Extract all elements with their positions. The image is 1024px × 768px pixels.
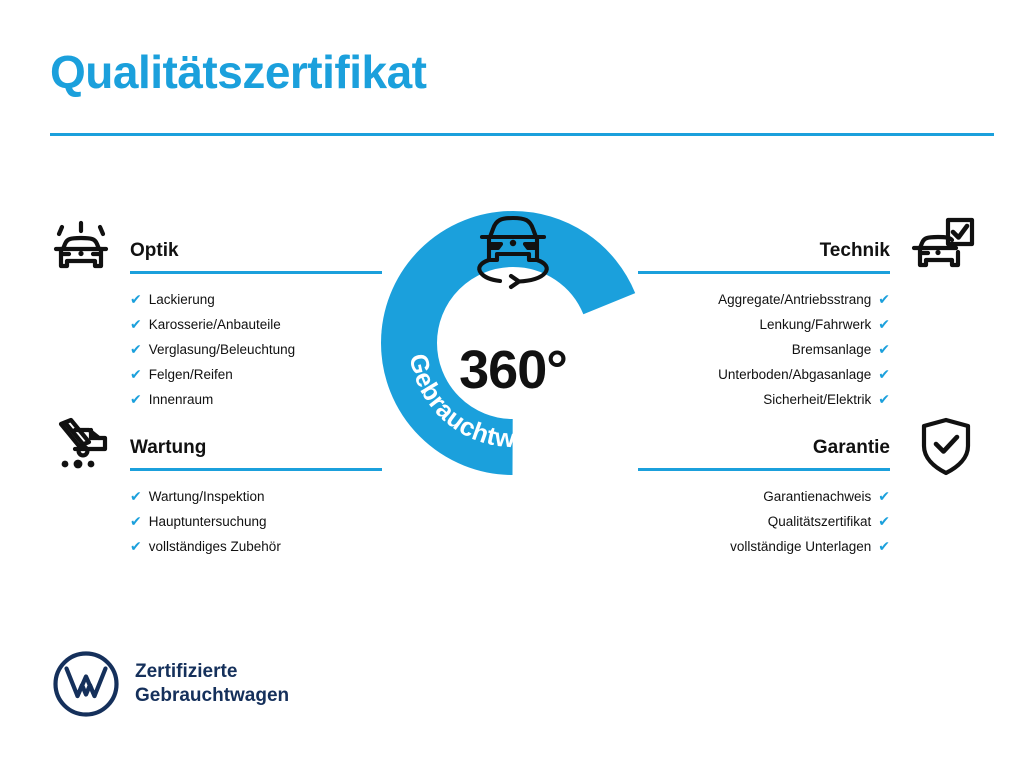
section-title: Technik [638,240,890,262]
list-item-label: Unterboden/Abgasanlage [718,363,871,387]
page-title: Qualitätszertifikat [50,47,427,98]
checklist-optik: ✔Lackierung ✔Karosserie/Anbauteile ✔Verg… [130,287,382,412]
check-icon: ✔ [878,337,890,361]
list-item-label: Innenraum [149,388,214,412]
check-icon: ✔ [878,484,890,508]
list-item-label: Lenkung/Fahrwerk [759,313,871,337]
list-item: ✔Verglasung/Beleuchtung [130,337,382,362]
check-icon: ✔ [130,534,142,558]
vw-certified-logo: Zertifizierte Gebrauchtwagen [52,650,289,718]
title-divider [50,133,994,136]
checklist-technik: Aggregate/Antriebsstrang✔ Lenkung/Fahrwe… [638,287,890,412]
list-item-label: Garantienachweis [763,485,871,509]
list-item: Qualitätszertifikat✔ [638,509,890,534]
list-item-label: Hauptuntersuchung [149,510,267,534]
list-item-label: Aggregate/Antriebsstrang [718,288,871,312]
vw-wordmark-line1: Zertifizierte [135,660,289,684]
list-item-label: vollständiges Zubehör [149,535,281,559]
section-optik: Optik ✔Lackierung ✔Karosserie/Anbauteile… [130,240,382,412]
check-icon: ✔ [878,534,890,558]
shield-check-icon [910,410,982,482]
list-item-label: Qualitätszertifikat [768,510,872,534]
list-item: Bremsanlage✔ [638,337,890,362]
vw-wordmark: Zertifizierte Gebrauchtwagen [135,660,289,708]
car-checkbox-icon [906,208,978,280]
list-item: ✔Wartung/Inspektion [130,484,382,509]
check-icon: ✔ [130,362,142,386]
list-item: ✔Lackierung [130,287,382,312]
list-item: vollständige Unterlagen✔ [638,534,890,559]
section-title: Garantie [638,437,890,459]
list-item-label: Verglasung/Beleuchtung [149,338,295,362]
section-technik: Technik Aggregate/Antriebsstrang✔ Lenkun… [638,240,890,412]
section-title: Wartung [130,437,382,459]
360-check-badge: Gebrauchtwagen-Check 360° [370,200,656,486]
list-item: Lenkung/Fahrwerk✔ [638,312,890,337]
section-header: Optik [130,240,382,274]
section-header: Garantie [638,437,890,471]
section-underline [638,468,890,471]
list-item-label: Wartung/Inspektion [149,485,265,509]
check-icon: ✔ [130,509,142,533]
volkswagen-roundel-icon [52,650,120,718]
vw-wordmark-line2: Gebrauchtwagen [135,684,289,708]
list-item: Aggregate/Antriebsstrang✔ [638,287,890,312]
check-icon: ✔ [878,312,890,336]
list-item: ✔Karosserie/Anbauteile [130,312,382,337]
section-header: Wartung [130,437,382,471]
car-service-pen-icon [45,406,117,478]
check-icon: ✔ [130,337,142,361]
list-item: Garantienachweis✔ [638,484,890,509]
check-icon: ✔ [130,387,142,411]
check-icon: ✔ [878,509,890,533]
list-item: Unterboden/Abgasanlage✔ [638,362,890,387]
section-header: Technik [638,240,890,274]
car-shine-icon [45,208,117,280]
list-item-label: vollständige Unterlagen [730,535,871,559]
list-item: Sicherheit/Elektrik✔ [638,387,890,412]
list-item-label: Bremsanlage [792,338,872,362]
section-title: Optik [130,240,382,262]
section-wartung: Wartung ✔Wartung/Inspektion ✔Hauptunters… [130,437,382,559]
section-underline [130,468,382,471]
list-item: ✔vollständiges Zubehör [130,534,382,559]
car-rotate-360-icon [467,204,559,296]
section-garantie: Garantie Garantienachweis✔ Qualitätszert… [638,437,890,559]
checklist-garantie: Garantienachweis✔ Qualitätszertifikat✔ v… [638,484,890,559]
section-underline [638,271,890,274]
check-icon: ✔ [878,287,890,311]
list-item: ✔Innenraum [130,387,382,412]
list-item: ✔Hauptuntersuchung [130,509,382,534]
list-item-label: Felgen/Reifen [149,363,233,387]
check-icon: ✔ [130,287,142,311]
list-item-label: Lackierung [149,288,215,312]
section-underline [130,271,382,274]
check-icon: ✔ [878,362,890,386]
check-icon: ✔ [878,387,890,411]
check-icon: ✔ [130,484,142,508]
checklist-wartung: ✔Wartung/Inspektion ✔Hauptuntersuchung ✔… [130,484,382,559]
list-item-label: Sicherheit/Elektrik [763,388,871,412]
check-icon: ✔ [130,312,142,336]
list-item-label: Karosserie/Anbauteile [149,313,281,337]
list-item: ✔Felgen/Reifen [130,362,382,387]
